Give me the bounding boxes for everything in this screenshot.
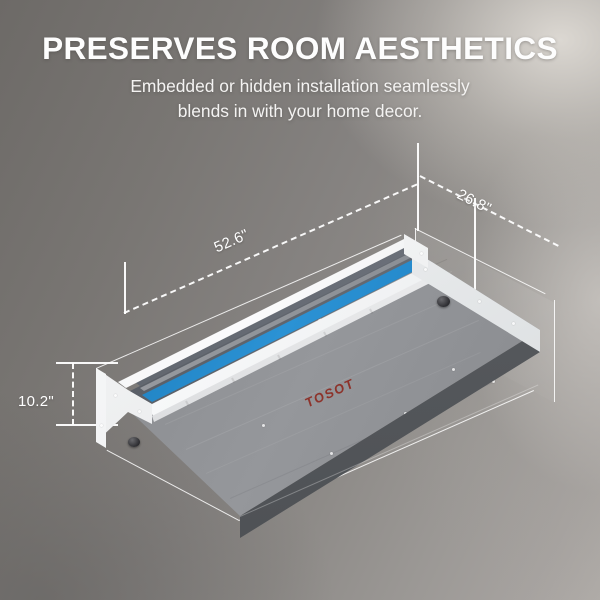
- drain-port-knob: [437, 296, 450, 307]
- unit-channel-rear-lip: [0, 0, 600, 600]
- side-port-knob: [128, 437, 140, 447]
- product-hero-image: PRESERVES ROOM AESTHETICS Embedded or hi…: [0, 0, 600, 600]
- air-handler-unit: TOSOT: [0, 0, 600, 600]
